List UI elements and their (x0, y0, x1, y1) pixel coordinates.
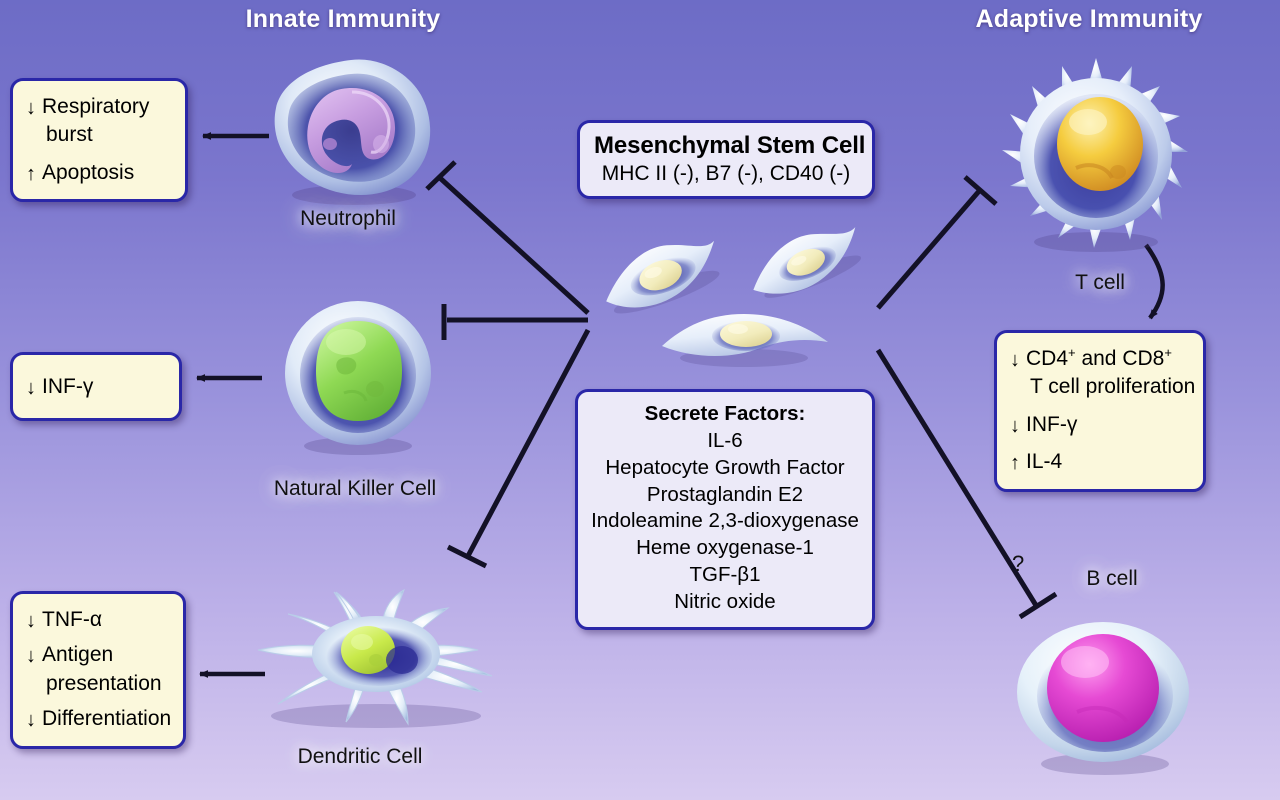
tcell-effect-1: ↓CD4+ and CD8+ (1010, 346, 1191, 371)
down-arrow-icon: ↓ (26, 98, 40, 118)
callout-secrete-factors: Secrete Factors: IL-6 Hepatocyte Growth … (575, 389, 875, 630)
callout-mesenchymal-stem-cell: Mesenchymal Stem Cell MHC II (-), B7 (-)… (577, 120, 875, 199)
secrete-factor-item: Indoleamine 2,3-dioxygenase (588, 508, 862, 535)
uncertainty-question-mark: ? (1012, 551, 1024, 577)
down-arrow-icon: ↓ (26, 646, 40, 666)
heading-innate-immunity: Innate Immunity (246, 5, 441, 34)
label-t-cell: T cell (1075, 271, 1125, 295)
down-arrow-icon: ↓ (26, 710, 40, 730)
secrete-factors-heading: Secrete Factors: (588, 401, 862, 428)
nk-effect-1: ↓INF-γ (26, 374, 167, 399)
secrete-factor-item: Nitric oxide (588, 589, 862, 616)
label-b-cell: B cell (1086, 567, 1137, 591)
natural-killer-cell (278, 297, 438, 457)
callout-dendritic-effects: ↓TNF-α ↓Antigen presentation ↓Differenti… (10, 591, 186, 749)
up-arrow-icon: ↑ (26, 164, 40, 184)
dendritic-effect-3: ↓Differentiation (26, 706, 171, 731)
heading-adaptive-immunity: Adaptive Immunity (975, 5, 1202, 34)
callout-neutrophil-effects: ↓Respiratory burst ↑Apoptosis (10, 78, 188, 202)
link-msc-neutrophil (427, 162, 588, 313)
link-msc-tcell (878, 177, 996, 308)
dendritic-effect-1: ↓TNF-α (26, 607, 171, 632)
label-neutrophil: Neutrophil (300, 207, 396, 231)
dendritic-effect-2-cont: presentation (26, 671, 171, 696)
tcell-effect-2: ↓INF-γ (1010, 412, 1191, 437)
secrete-factor-item: TGF-β1 (588, 562, 862, 589)
dendritic-cell (216, 588, 526, 733)
msc-title: Mesenchymal Stem Cell (594, 131, 858, 160)
secrete-factor-item: Hepatocyte Growth Factor (588, 455, 862, 482)
mesenchymal-stem-cells (596, 230, 886, 370)
tcell-effect-1-cont: T cell proliferation (1010, 374, 1191, 399)
dendritic-effect-2: ↓Antigen (26, 642, 171, 667)
down-arrow-icon: ↓ (1010, 350, 1024, 370)
t-cell (996, 56, 1196, 256)
superscript-plus: + (1068, 345, 1076, 360)
secrete-factor-item: Prostaglandin E2 (588, 482, 862, 509)
label-natural-killer-cell: Natural Killer Cell (274, 477, 436, 501)
msc-subtitle: MHC II (-), B7 (-), CD40 (-) (594, 161, 858, 186)
immunomodulation-diagram: Innate Immunity Adaptive Immunity (0, 0, 1280, 800)
down-arrow-icon: ↓ (26, 378, 40, 398)
b-cell (1013, 612, 1193, 777)
label-dendritic-cell: Dendritic Cell (298, 745, 423, 769)
callout-nk-effects: ↓INF-γ (10, 352, 182, 421)
neutrophil-cell (256, 52, 446, 207)
superscript-plus: + (1164, 345, 1172, 360)
neutrophil-effect-2: ↑Apoptosis (26, 160, 173, 185)
callout-tcell-effects: ↓CD4+ and CD8+ T cell proliferation ↓INF… (994, 330, 1206, 492)
neutrophil-effect-1: ↓Respiratory (26, 94, 173, 119)
link-msc-nk (444, 304, 588, 340)
secrete-factor-item: Heme oxygenase-1 (588, 535, 862, 562)
link-msc-dendritic (448, 330, 588, 566)
down-arrow-icon: ↓ (26, 611, 40, 631)
neutrophil-effect-1-cont: burst (26, 122, 173, 147)
secrete-factor-item: IL-6 (588, 428, 862, 455)
up-arrow-icon: ↑ (1010, 453, 1024, 473)
tcell-effect-3: ↑IL-4 (1010, 449, 1191, 474)
down-arrow-icon: ↓ (1010, 416, 1024, 436)
